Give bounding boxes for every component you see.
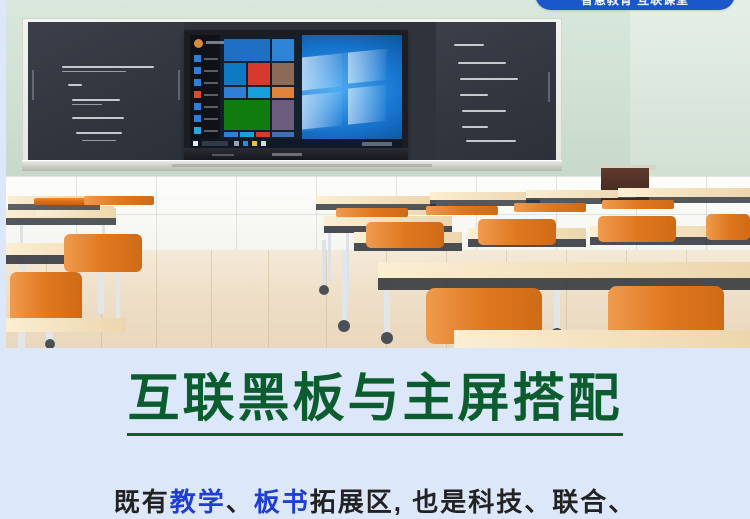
start-tile-xbox[interactable] <box>224 100 270 130</box>
start-tile-phone[interactable] <box>224 63 246 85</box>
start-tile[interactable] <box>272 39 294 61</box>
headline-section: 互联黑板与主屏搭配 <box>0 372 750 436</box>
top-promo-badge[interactable]: 智慧教育 互联课堂 <box>535 0 735 10</box>
windows-desktop[interactable] <box>190 35 402 148</box>
subtitle-segment-4: 拓展区, 也是科技、联合、 <box>310 487 636 517</box>
page-title: 互联黑板与主屏搭配 <box>127 372 622 436</box>
start-tile[interactable] <box>224 132 238 137</box>
start-tile[interactable] <box>256 132 270 137</box>
start-menu-username <box>206 41 226 44</box>
display-bezel <box>184 148 408 160</box>
task-view-icon[interactable] <box>234 141 239 146</box>
blackboard-left-panel <box>28 22 184 160</box>
blackboard-right-panel <box>436 22 556 160</box>
interactive-display[interactable] <box>184 30 408 160</box>
windows-wallpaper-logo <box>302 48 388 131</box>
start-tile[interactable] <box>224 87 246 98</box>
subtitle-segment-3: 板书 <box>254 487 310 517</box>
start-tile[interactable] <box>272 87 294 98</box>
search-box[interactable] <box>202 141 228 146</box>
edge-icon[interactable] <box>243 141 248 146</box>
start-button-icon[interactable] <box>193 141 198 146</box>
subtitle-segment-1: 教学 <box>170 487 226 517</box>
explorer-icon[interactable] <box>252 141 257 146</box>
windows-start-menu[interactable] <box>190 35 302 139</box>
windows-taskbar[interactable] <box>190 139 402 148</box>
system-tray[interactable] <box>362 142 392 146</box>
subtitle-segment-2: 、 <box>226 487 254 517</box>
start-tile[interactable] <box>272 100 294 130</box>
start-menu-avatar[interactable] <box>194 39 203 48</box>
start-tile-large[interactable] <box>224 39 270 61</box>
start-tile[interactable] <box>248 87 270 98</box>
display-brand-logo <box>272 153 302 156</box>
subtitle-segment-0: 既有 <box>114 487 170 517</box>
start-tile-people[interactable] <box>272 63 294 85</box>
start-menu-rail[interactable] <box>190 35 220 139</box>
blackboard-chalk-tray <box>22 160 562 171</box>
display-model-label <box>212 154 234 156</box>
top-promo-badge-label: 智慧教育 互联课堂 <box>581 0 689 8</box>
page-subtitle: 既有教学、板书拓展区, 也是科技、联合、 <box>0 482 750 519</box>
start-tile[interactable] <box>240 132 254 137</box>
start-tile[interactable] <box>272 132 294 137</box>
store-icon[interactable] <box>261 141 266 146</box>
start-tile-office[interactable] <box>248 63 270 85</box>
hero-classroom-image <box>6 0 750 348</box>
